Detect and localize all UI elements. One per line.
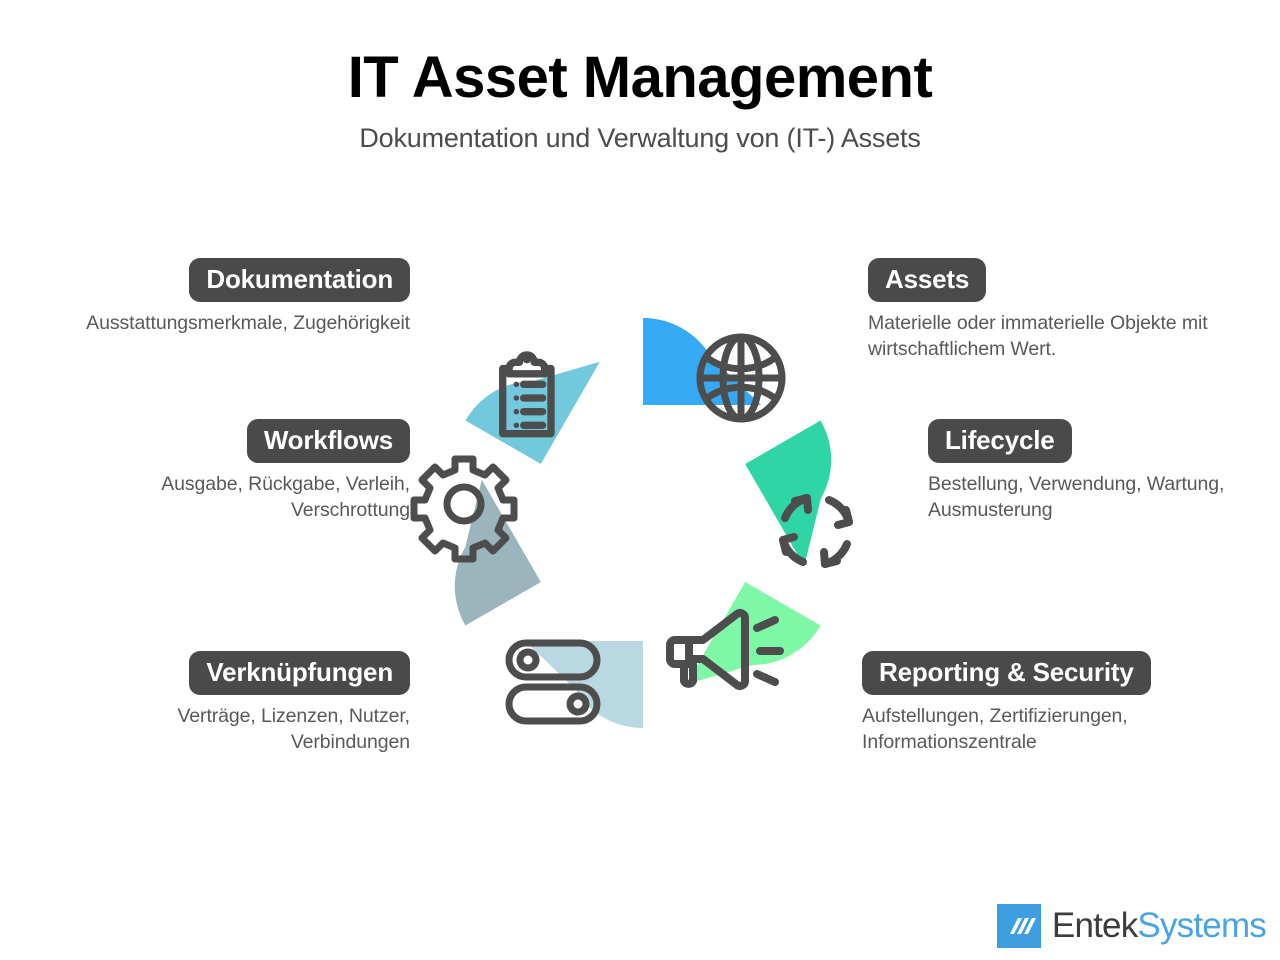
page-subtitle: Dokumentation und Verwaltung von (IT-) A… [0, 123, 1280, 154]
label-block-assets: Assets Materielle oder immaterielle Obje… [868, 258, 1208, 363]
globe-icon [700, 337, 782, 419]
description-reporting: Aufstellungen, Zertifizierungen, Informa… [862, 704, 1202, 756]
label-block-dokumentation: Dokumentation Ausstattungsmerkmale, Zuge… [70, 258, 410, 337]
description-assets: Materielle oder immaterielle Objekte mit… [868, 311, 1208, 363]
label-block-verknuepfungen: Verknüpfungen Verträge, Lizenzen, Nutzer… [70, 651, 410, 756]
logo-text-entek: Entek [1052, 906, 1138, 945]
wheel-segment-assets[interactable] [643, 318, 782, 523]
description-workflows: Ausgabe, Rückgabe, Verleih, Verschrottun… [70, 472, 410, 524]
pinwheel-diagram [398, 288, 888, 763]
entek-systems-logo: EntekSystems [997, 904, 1266, 948]
gear-icon [414, 459, 514, 559]
label-block-reporting: Reporting & Security Aufstellungen, Zert… [862, 651, 1202, 756]
pill-reporting: Reporting & Security [862, 651, 1151, 695]
description-dokumentation: Ausstattungsmerkmale, Zugehörigkeit [70, 311, 410, 337]
page-title: IT Asset Management [0, 48, 1280, 109]
pill-lifecycle: Lifecycle [928, 419, 1072, 463]
label-block-workflows: Workflows Ausgabe, Rückgabe, Verleih, Ve… [70, 419, 410, 524]
header: IT Asset Management Dokumentation und Ve… [0, 0, 1280, 154]
three-slashes-icon [997, 904, 1041, 948]
label-block-lifecycle: Lifecycle Bestellung, Verwendung, Wartun… [928, 419, 1268, 524]
description-lifecycle: Bestellung, Verwendung, Wartung, Ausmust… [928, 472, 1268, 524]
pill-verknuepfungen: Verknüpfungen [189, 651, 410, 695]
pill-workflows: Workflows [247, 419, 410, 463]
logo-wordmark: EntekSystems [1052, 906, 1266, 946]
description-verknuepfungen: Verträge, Lizenzen, Nutzer, Verbindungen [70, 704, 410, 756]
pill-dokumentation: Dokumentation [189, 258, 410, 302]
logo-text-systems: Systems [1137, 906, 1266, 945]
wheel-segment-verknuepfungen[interactable] [509, 523, 643, 728]
